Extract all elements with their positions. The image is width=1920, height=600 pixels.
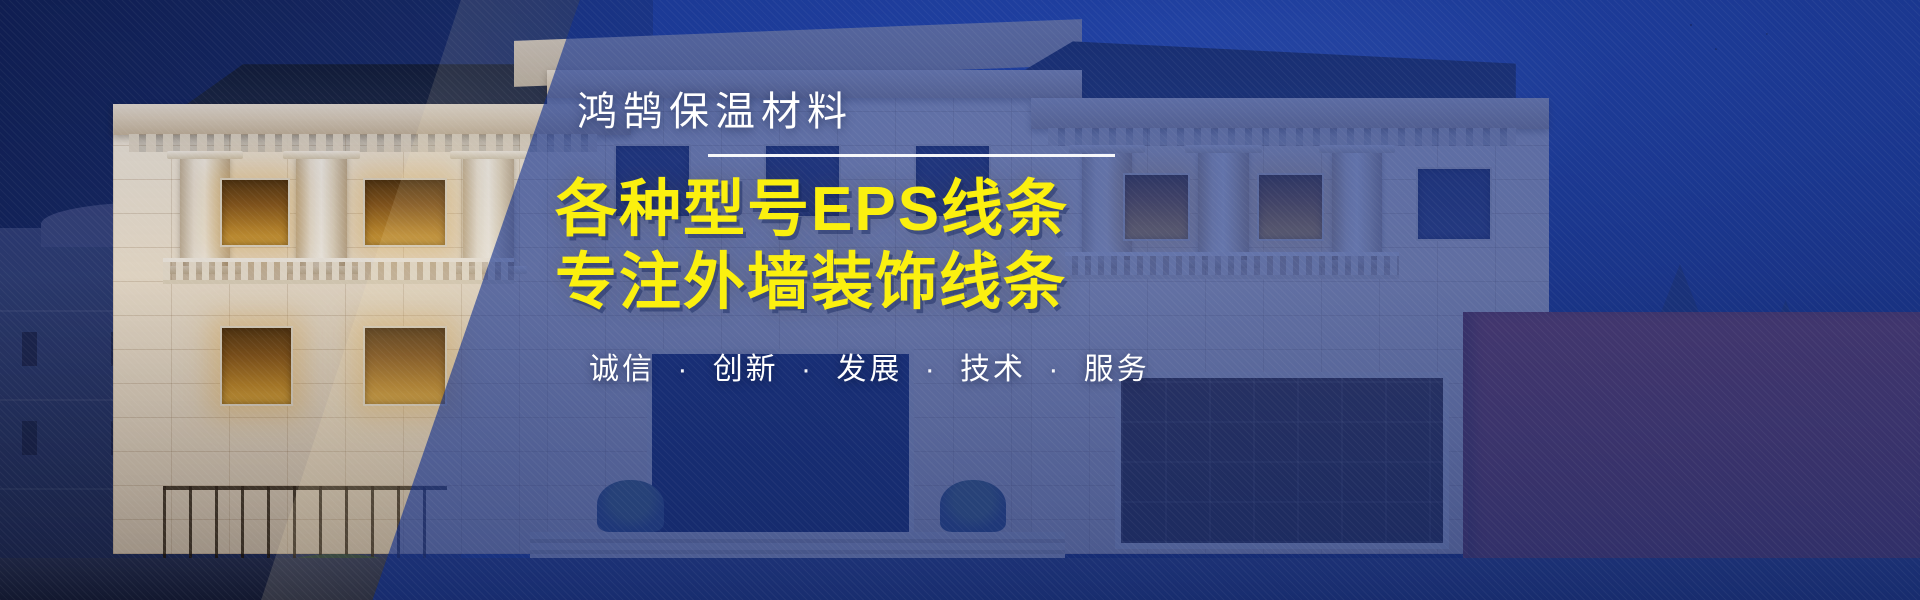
divider-rule xyxy=(708,154,1115,157)
tagline-separator: · xyxy=(1048,353,1061,386)
tagline-item-2: 创新 xyxy=(713,353,779,386)
tagline-item-1: 诚信 xyxy=(589,353,655,386)
tagline-separator: · xyxy=(677,353,690,386)
headline-line-2: 专注外墙装饰线条 xyxy=(555,246,1555,319)
headline: 各种型号EPS线条 专注外墙装饰线条 xyxy=(555,173,1555,319)
tagline: 诚信 · 创新 · 发展 · 技术 · 服务 xyxy=(589,355,1555,385)
tagline-separator: · xyxy=(801,353,814,386)
hero-banner: 鸿鹄保温材料 各种型号EPS线条 专注外墙装饰线条 诚信 · 创新 · 发展 ·… xyxy=(0,0,1920,600)
tagline-separator: · xyxy=(925,353,938,386)
tagline-item-4: 技术 xyxy=(960,353,1026,386)
tagline-item-5: 服务 xyxy=(1084,353,1150,386)
headline-line-1: 各种型号EPS线条 xyxy=(555,175,1069,244)
tagline-item-3: 发展 xyxy=(836,353,902,386)
banner-content: 鸿鹄保温材料 各种型号EPS线条 专注外墙装饰线条 诚信 · 创新 · 发展 ·… xyxy=(555,92,1555,385)
brand-name: 鸿鹄保温材料 xyxy=(577,92,1555,132)
